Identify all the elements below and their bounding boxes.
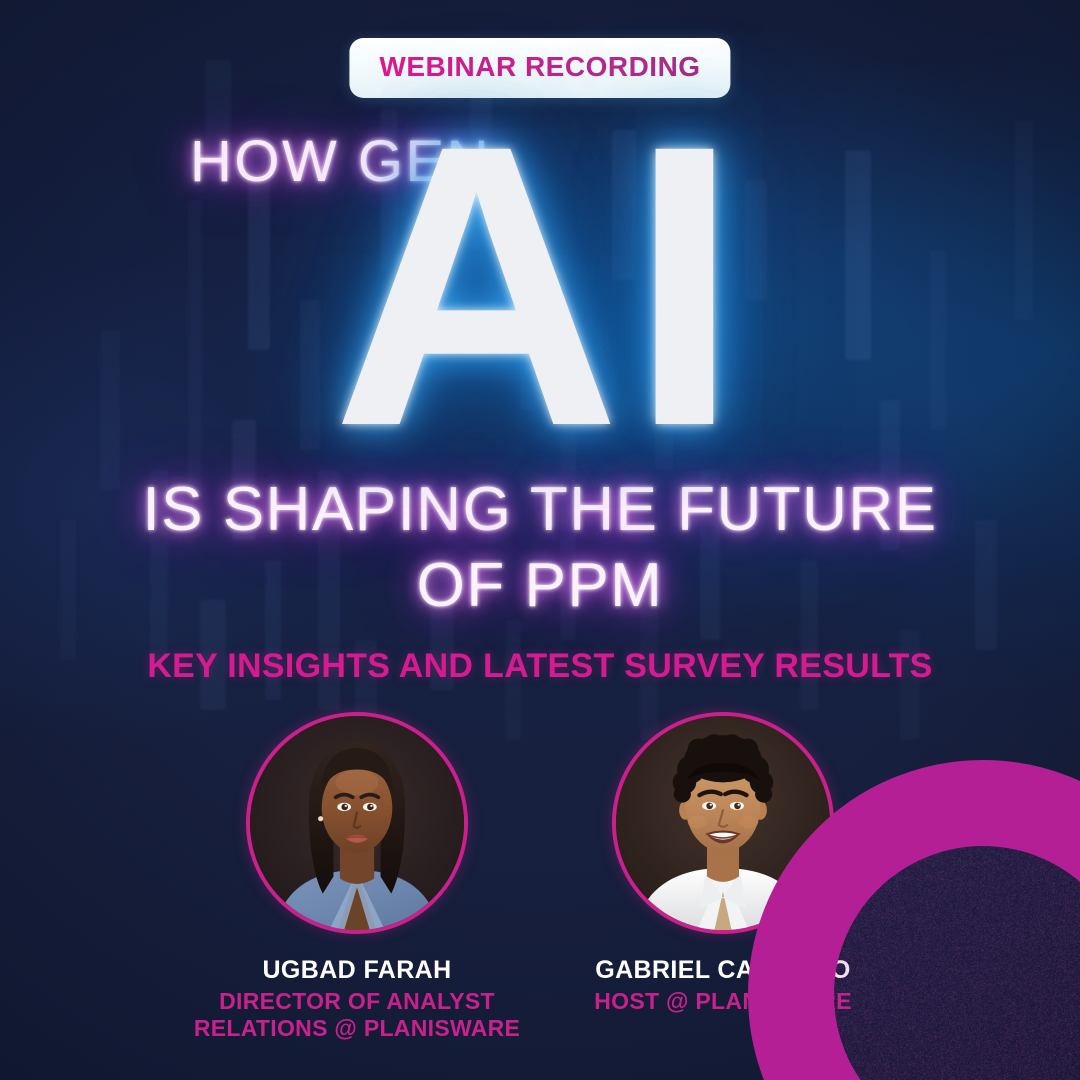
headline-block: HOW GEN AI IS SHAPING THE FUTURE OF PPM … — [0, 112, 1080, 686]
headline-hero-ai: AI — [332, 86, 748, 486]
woman-portrait-photo — [250, 716, 464, 930]
speaker-card: UGBAD FARAH DIRECTOR OF ANALYST RELATION… — [192, 712, 522, 1042]
avatar — [246, 712, 468, 934]
speaker-name: UGBAD FARAH — [192, 956, 522, 985]
speaker-role: DIRECTOR OF ANALYST RELATIONS @ PLANISWA… — [192, 988, 522, 1042]
speaker-role-line2: RELATIONS @ PLANISWARE — [192, 1015, 522, 1042]
speaker-role-line1: DIRECTOR OF ANALYST — [219, 988, 495, 1014]
headline-line-3: OF PPM — [0, 548, 1080, 624]
hero-line: HOW GEN AI — [0, 112, 1080, 472]
webinar-promo-poster: WEBINAR RECORDING HOW GEN AI IS SHAPING … — [0, 0, 1080, 1080]
headline-subtitle: KEY INSIGHTS AND LATEST SURVEY RESULTS — [0, 647, 1080, 686]
